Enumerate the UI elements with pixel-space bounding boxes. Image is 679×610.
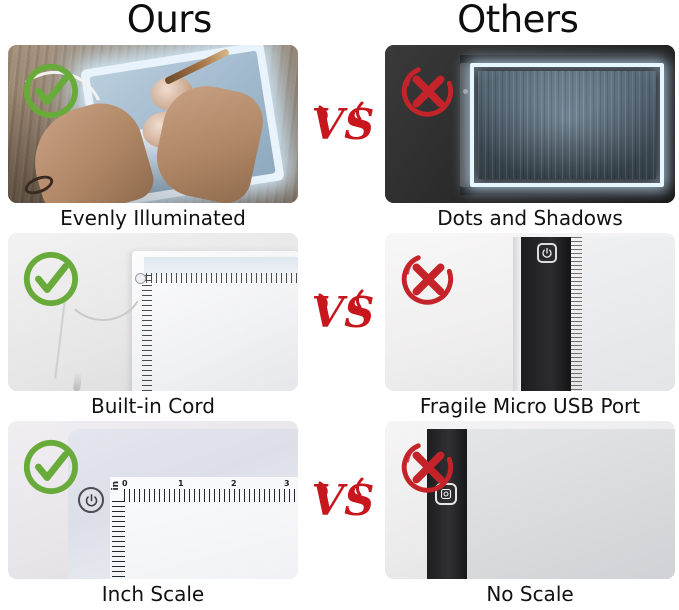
- red-cross-badge-icon: [399, 438, 457, 496]
- light-pad-body: [460, 55, 670, 195]
- caption-slot-ours: Inch Scale: [8, 579, 298, 609]
- vs-divider-icon: VS: [312, 281, 374, 343]
- caption-ours: Inch Scale: [102, 582, 204, 606]
- row-captions: Built-in Cord Fragile Micro USB Port: [0, 391, 679, 421]
- ruler-tick-3: 3: [284, 479, 290, 488]
- light-pad-edge-glow: [470, 63, 664, 187]
- panel-slot-others: [385, 233, 675, 391]
- caption-slot-others: Fragile Micro USB Port: [385, 391, 675, 421]
- panel-slot-others: [385, 421, 675, 579]
- ruler-tick-0: 0: [122, 479, 128, 488]
- power-button-icon: [78, 487, 104, 513]
- row-captions: Inch Scale No Scale: [0, 579, 679, 609]
- caption-others: No Scale: [486, 582, 573, 606]
- ruler-horizontal: [146, 273, 298, 283]
- ruler-tick-2: 2: [231, 479, 237, 488]
- page-title-ours: Ours: [127, 0, 212, 40]
- light-pad-surface: [467, 429, 675, 579]
- caption-slot-others: Dots and Shadows: [385, 203, 675, 233]
- light-pad-body: [132, 251, 298, 391]
- caption-slot-ours: Evenly Illuminated: [8, 203, 298, 233]
- ruler-markings: [571, 237, 582, 391]
- green-check-badge-icon: [22, 62, 80, 120]
- red-cross-badge-icon: [399, 62, 457, 120]
- panel-slot-ours: [8, 233, 298, 391]
- ruler-vertical: [112, 501, 125, 579]
- ruler-tick-1: 1: [178, 479, 184, 488]
- red-cross-badge-icon: [399, 250, 457, 308]
- row-captions: Evenly Illuminated Dots and Shadows: [0, 203, 679, 233]
- panel-slot-ours: in 0 1 2 3: [8, 421, 298, 579]
- caption-slot-ours: Built-in Cord: [8, 391, 298, 421]
- power-button-icon: [537, 243, 557, 263]
- power-button-icon: [135, 273, 146, 284]
- light-pad-body: in 0 1 2 3: [68, 429, 298, 579]
- green-check-badge-icon: [22, 250, 80, 308]
- panel-slot-others: [385, 45, 675, 203]
- vs-divider-icon: VS: [312, 93, 374, 155]
- caption-others: Fragile Micro USB Port: [420, 394, 640, 418]
- panel-slot-ours: [8, 45, 298, 203]
- vs-divider-icon: VS: [312, 469, 374, 531]
- indicator-dot: [463, 89, 468, 94]
- light-pad-surface: [582, 237, 675, 391]
- header-cell-ours: Ours: [0, 0, 331, 45]
- caption-others: Dots and Shadows: [437, 206, 623, 230]
- caption-ours: Evenly Illuminated: [60, 206, 246, 230]
- page-title-others: Others: [457, 0, 578, 40]
- green-check-badge-icon: [22, 438, 80, 496]
- comparison-row-illumination: VS Evenly Illuminated Dots and Shadows: [0, 45, 679, 233]
- shadow-vignette: [478, 71, 656, 179]
- ruler-vertical: [142, 275, 152, 391]
- caption-slot-others: No Scale: [385, 579, 675, 609]
- column-headers: Ours Others: [0, 0, 679, 45]
- ruler-unit-label: in: [112, 481, 121, 491]
- light-pad-surface: [478, 71, 656, 179]
- ruler-horizontal: [124, 489, 298, 502]
- comparison-row-scale: in 0 1 2 3: [0, 421, 679, 609]
- caption-ours: Built-in Cord: [91, 394, 215, 418]
- comparison-row-cord: VS Built-in Cord Fragile Micro USB Port: [0, 233, 679, 421]
- header-cell-others: Others: [331, 0, 679, 45]
